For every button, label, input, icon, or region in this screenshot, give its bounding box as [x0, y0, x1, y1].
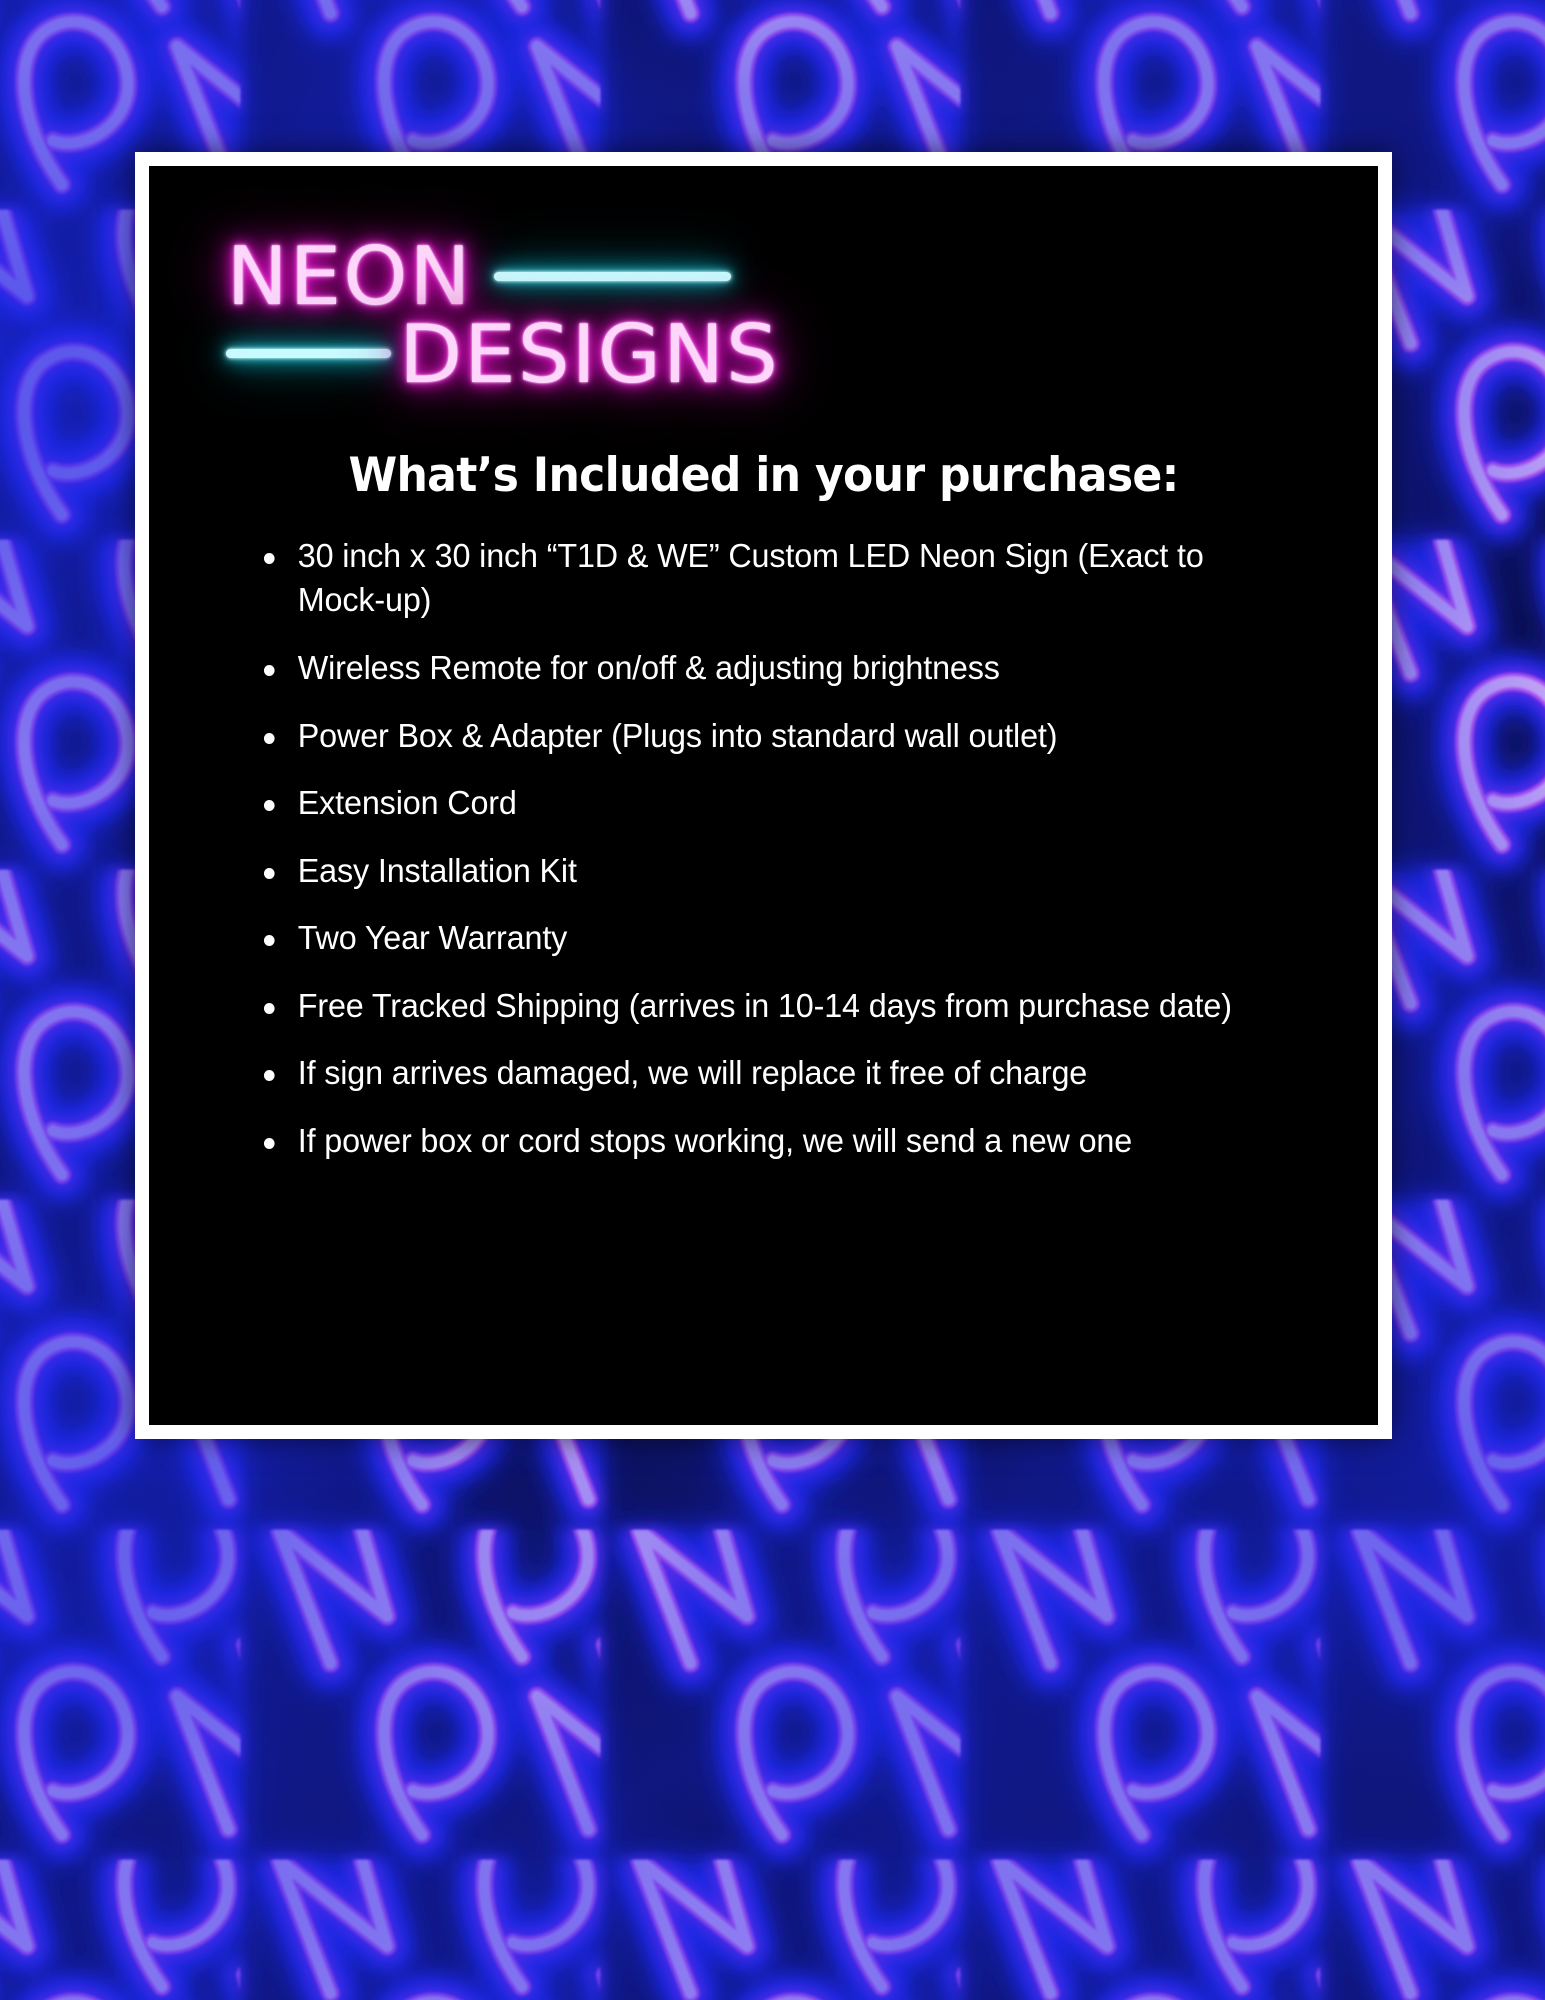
cyan-bar-top-icon — [494, 272, 731, 281]
list-item: Wireless Remote for on/off & adjusting b… — [263, 647, 1295, 692]
page-root: NEON DESIGNS What’s Included in your pur… — [0, 0, 1545, 2000]
list-item: Power Box & Adapter (Plugs into standard… — [263, 715, 1295, 760]
page-title: What’s Included in your purchase: — [186, 452, 1341, 501]
cyan-bar-bottom-icon — [226, 349, 391, 358]
list-item: Free Tracked Shipping (arrives in 10-14 … — [263, 985, 1295, 1030]
list-item: If sign arrives damaged, we will replace… — [263, 1052, 1295, 1097]
content-card: NEON DESIGNS What’s Included in your pur… — [135, 152, 1392, 1439]
logo-word-designs: DESIGNS — [399, 308, 780, 401]
list-item: If power box or cord stops working, we w… — [263, 1120, 1295, 1165]
list-item: Two Year Warranty — [263, 917, 1295, 962]
content-card-inner: NEON DESIGNS What’s Included in your pur… — [149, 166, 1378, 1425]
included-items-list: 30 inch x 30 inch “T1D & WE” Custom LED … — [149, 535, 1378, 1164]
neon-designs-logo: NEON DESIGNS — [149, 224, 1378, 436]
list-item: Extension Cord — [263, 782, 1295, 827]
list-item: 30 inch x 30 inch “T1D & WE” Custom LED … — [263, 535, 1295, 624]
list-item: Easy Installation Kit — [263, 850, 1295, 895]
